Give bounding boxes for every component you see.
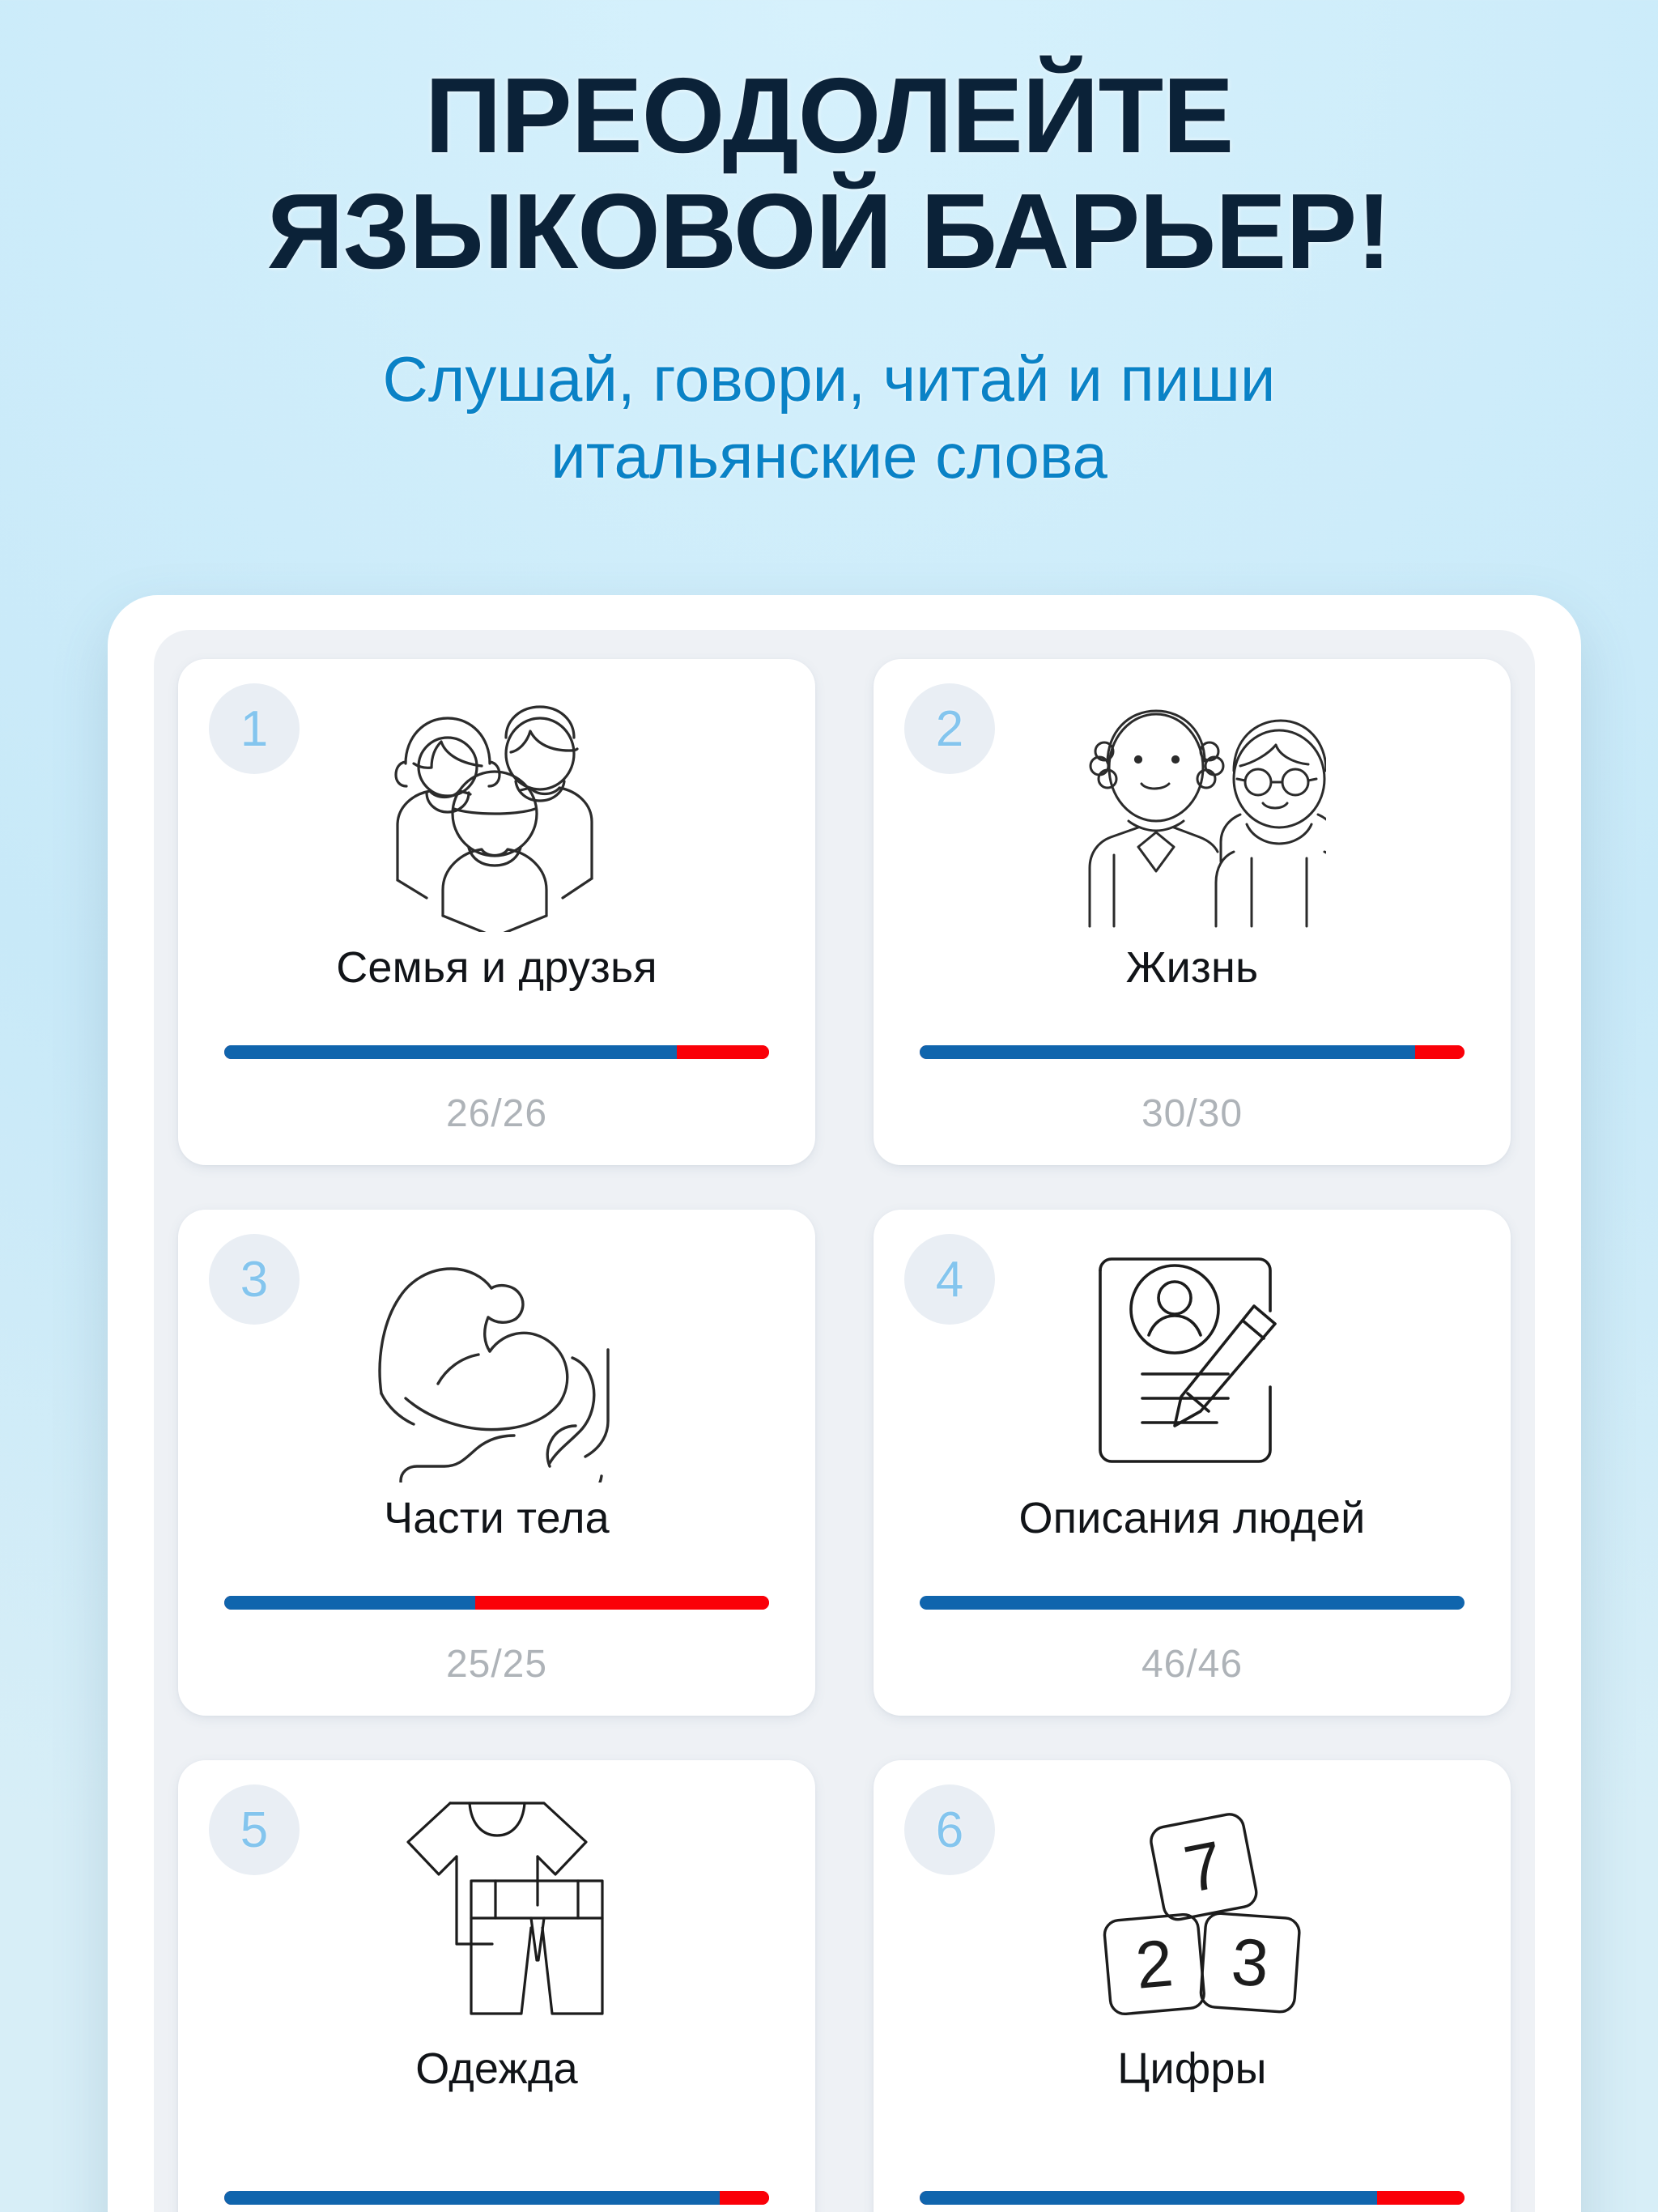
progress-bar [920, 2191, 1465, 2205]
lesson-number-badge: 1 [209, 683, 300, 774]
subhead-line-2: итальянские слова [121, 418, 1537, 495]
headline-line-2: ЯЗЫКОВОЙ БАРЬЕР! [73, 174, 1585, 290]
promo-header: ПРЕОДОЛЕЙТЕ ЯЗЫКОВОЙ БАРЬЕР! Слушай, гов… [0, 0, 1658, 495]
headline-line-1: ПРЕОДОЛЕЙТЕ [73, 58, 1585, 174]
lesson-title: Семья и друзья [178, 942, 815, 993]
lesson-card-2[interactable]: 2 [874, 659, 1511, 1165]
lesson-count: 46/46 [874, 1642, 1511, 1716]
progress-blue-segment [224, 1045, 677, 1059]
progress-bar [224, 1045, 769, 1059]
lesson-title: Описания людей [874, 1493, 1511, 1543]
lesson-title: Части тела [178, 1493, 815, 1543]
progress-red-segment [1415, 1045, 1465, 1059]
lesson-list-screen: 1 [154, 630, 1535, 2212]
progress-bar [920, 1045, 1465, 1059]
lesson-card-6[interactable]: 6 7 2 3 [874, 1760, 1511, 2212]
progress-blue-segment [224, 1596, 475, 1610]
lesson-title: Одежда [178, 2044, 815, 2094]
progress-blue-segment [920, 1596, 1465, 1610]
lesson-number-badge: 2 [904, 683, 995, 774]
lesson-card-5[interactable]: 5 Одежда [178, 1760, 815, 2212]
lesson-number-badge: 3 [209, 1234, 300, 1325]
lesson-number-badge: 4 [904, 1234, 995, 1325]
lesson-grid: 1 [154, 630, 1535, 2212]
progress-bar [224, 2191, 769, 2205]
progress-red-segment [475, 1596, 769, 1610]
progress-bar [920, 1596, 1465, 1610]
svg-text:7: 7 [1178, 1827, 1228, 1907]
lesson-count: 25/25 [178, 1642, 815, 1716]
progress-red-segment [1377, 2191, 1465, 2205]
progress-red-segment [720, 2191, 769, 2205]
subhead-line-1: Слушай, говори, читай и пиши [121, 341, 1537, 418]
progress-blue-segment [920, 1045, 1415, 1059]
progress-bar [224, 1596, 769, 1610]
lesson-count: 30/30 [874, 1091, 1511, 1165]
lesson-card-3[interactable]: 3 [178, 1210, 815, 1716]
lesson-title: Цифры [874, 2044, 1511, 2094]
lesson-count: 26/26 [178, 1091, 815, 1165]
lesson-title: Жизнь [874, 942, 1511, 993]
svg-text:2: 2 [1133, 1926, 1175, 2003]
progress-bar-wrap [224, 1045, 769, 1064]
device-frame: 1 [108, 595, 1581, 2212]
progress-bar-wrap [920, 1596, 1465, 1614]
page-title: ПРЕОДОЛЕЙТЕ ЯЗЫКОВОЙ БАРЬЕР! [0, 58, 1658, 289]
progress-bar-wrap [224, 2191, 769, 2210]
progress-bar-wrap [920, 2191, 1465, 2210]
progress-bar-wrap [920, 1045, 1465, 1064]
page-subtitle: Слушай, говори, читай и пиши итальянские… [0, 341, 1658, 495]
progress-bar-wrap [224, 1596, 769, 1614]
progress-blue-segment [920, 2191, 1377, 2205]
svg-text:3: 3 [1229, 1925, 1271, 2001]
lesson-number-badge: 5 [209, 1784, 300, 1875]
lesson-number-badge: 6 [904, 1784, 995, 1875]
lesson-card-4[interactable]: 4 Описани [874, 1210, 1511, 1716]
lesson-card-1[interactable]: 1 [178, 659, 815, 1165]
progress-red-segment [677, 1045, 769, 1059]
progress-blue-segment [224, 2191, 720, 2205]
